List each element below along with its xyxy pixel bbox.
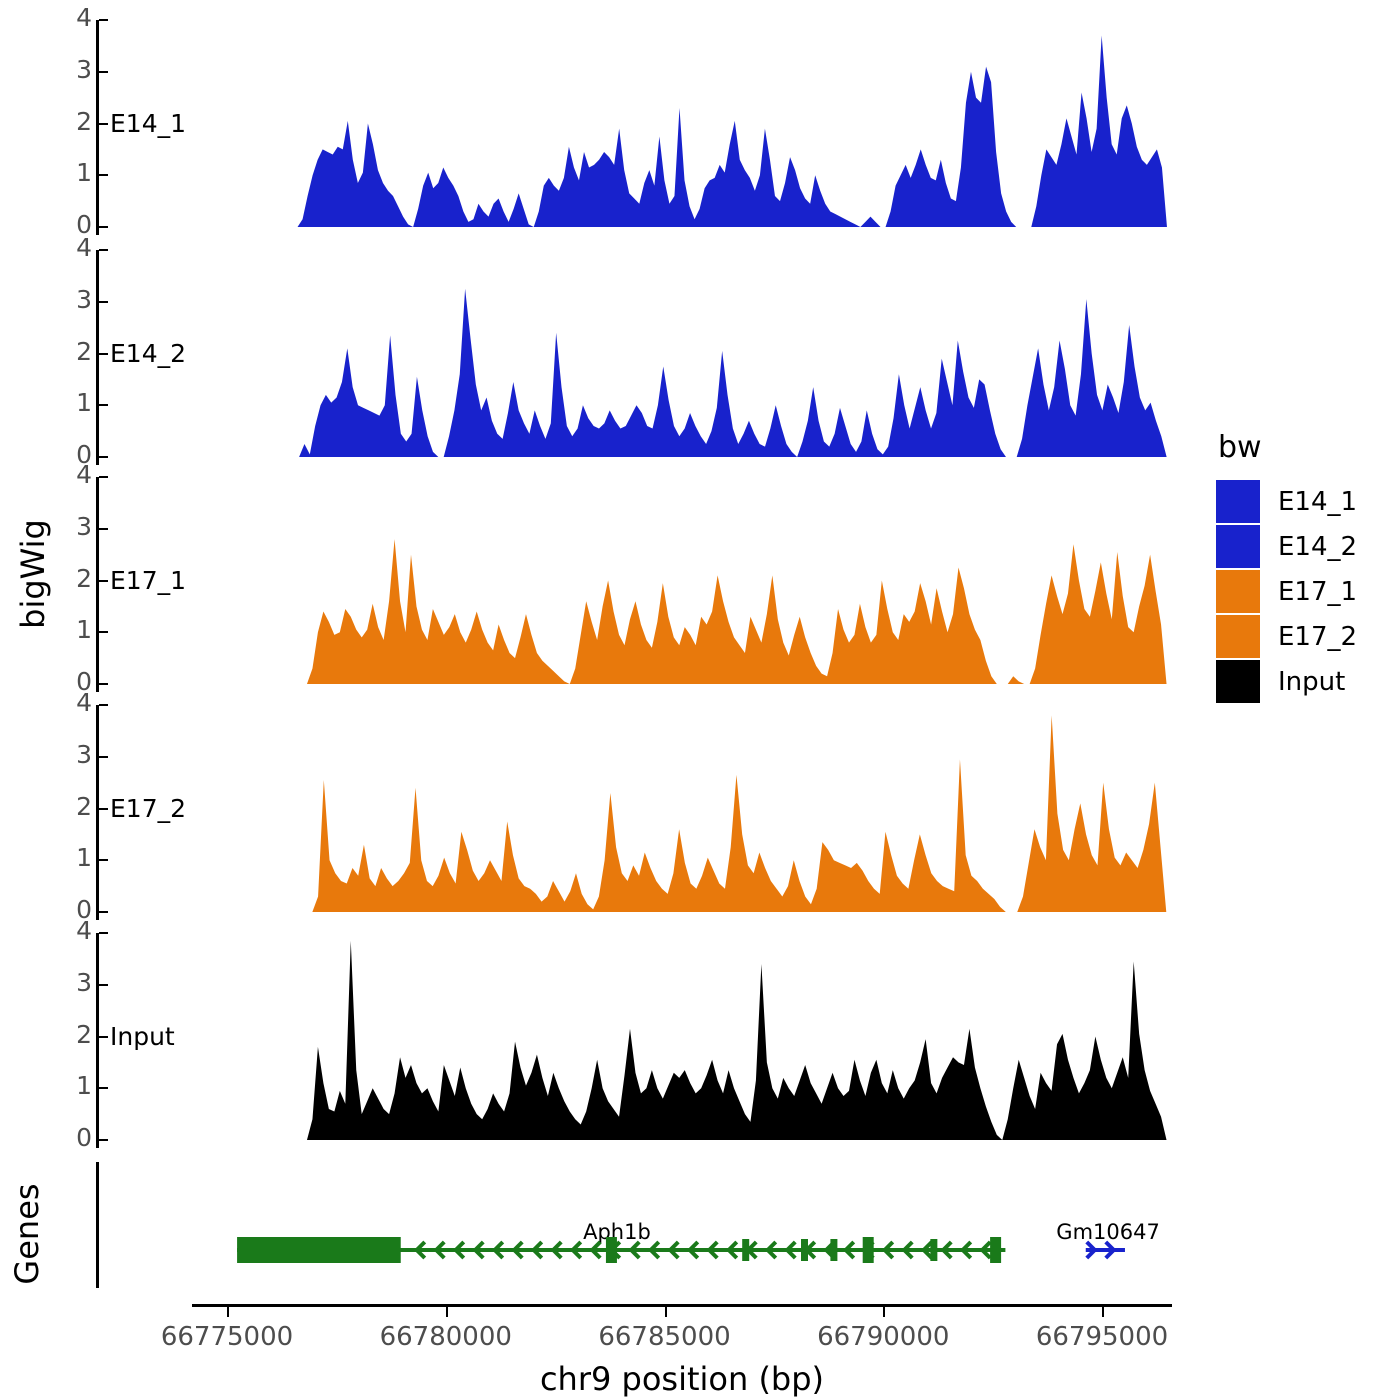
legend-swatch bbox=[1216, 525, 1260, 568]
y-tick bbox=[99, 756, 108, 758]
y-tick bbox=[99, 704, 108, 706]
y-tick bbox=[99, 123, 108, 125]
y-tick-label: 3 bbox=[58, 287, 92, 312]
y-tick-label: 2 bbox=[58, 794, 92, 819]
y-tick bbox=[99, 859, 108, 861]
y-tick bbox=[99, 71, 108, 73]
legend-swatch bbox=[1216, 480, 1260, 523]
y-tick bbox=[99, 174, 108, 176]
legend-item-e14_2[interactable]: E14_2 bbox=[1216, 524, 1396, 569]
y-tick bbox=[99, 683, 108, 685]
gene-models[interactable] bbox=[192, 1230, 1172, 1270]
aph1b-exon bbox=[990, 1237, 1001, 1263]
y-tick bbox=[99, 911, 108, 913]
track-area-e14_1 bbox=[192, 20, 1172, 228]
y-tick-label: 2 bbox=[58, 339, 92, 364]
y-tick-label: 3 bbox=[58, 514, 92, 539]
legend-label: E17_2 bbox=[1278, 622, 1357, 652]
y-tick-label: 3 bbox=[58, 57, 92, 82]
y-tick bbox=[99, 1139, 108, 1141]
aph1b-utr-block bbox=[237, 1237, 401, 1263]
y-axis-line bbox=[96, 477, 99, 692]
y-axis-line bbox=[96, 20, 99, 235]
legend-label: E14_1 bbox=[1278, 487, 1357, 517]
y-tick bbox=[99, 249, 108, 251]
y-tick-label: 1 bbox=[58, 617, 92, 642]
y-tick-label: 4 bbox=[58, 918, 92, 943]
track-label-e17_2: E17_2 bbox=[110, 794, 186, 823]
legend-swatch bbox=[1216, 570, 1260, 613]
x-axis-title: chr9 position (bp) bbox=[192, 1360, 1172, 1398]
y-tick-label: 3 bbox=[58, 742, 92, 767]
y-tick-label: 4 bbox=[58, 690, 92, 715]
y-tick-label: 4 bbox=[58, 5, 92, 30]
x-axis-line bbox=[192, 1304, 1172, 1307]
x-tick bbox=[883, 1307, 885, 1317]
y-tick-label: 2 bbox=[58, 109, 92, 134]
track-area-e14_2 bbox=[192, 250, 1172, 458]
y-tick bbox=[99, 353, 108, 355]
x-tick bbox=[665, 1307, 667, 1317]
y-tick-label: 1 bbox=[58, 1073, 92, 1098]
x-tick-label: 66775000 bbox=[161, 1322, 293, 1352]
y-tick bbox=[99, 1087, 108, 1089]
legend-item-e17_2[interactable]: E17_2 bbox=[1216, 614, 1396, 659]
y-tick-label: 1 bbox=[58, 160, 92, 185]
legend-swatch bbox=[1216, 660, 1260, 703]
legend-label: Input bbox=[1278, 667, 1345, 697]
legend-title: bw bbox=[1216, 430, 1396, 465]
y-tick-label: 4 bbox=[58, 235, 92, 260]
y-tick bbox=[99, 404, 108, 406]
x-tick-label: 66780000 bbox=[380, 1322, 512, 1352]
track-area-e17_1 bbox=[192, 477, 1172, 685]
y-tick-label: 1 bbox=[58, 845, 92, 870]
y-tick-label: 2 bbox=[58, 566, 92, 591]
y-tick-label: 4 bbox=[58, 462, 92, 487]
y-axis-line bbox=[96, 705, 99, 920]
y-axis-group-label: bigWig bbox=[14, 494, 52, 654]
genes-panel: Aph1b Gm10647 bbox=[0, 1160, 1200, 1300]
genes-axis-line bbox=[96, 1162, 99, 1288]
legend-item-e14_1[interactable]: E14_1 bbox=[1216, 479, 1396, 524]
x-tick-label: 66795000 bbox=[1036, 1322, 1168, 1352]
y-tick bbox=[99, 456, 108, 458]
track-label-input: Input bbox=[110, 1022, 175, 1051]
x-axis: 6677500066780000667850006679000066795000… bbox=[0, 1300, 1400, 1400]
y-axis-line bbox=[96, 933, 99, 1148]
y-tick bbox=[99, 301, 108, 303]
legend-item-input[interactable]: Input bbox=[1216, 659, 1396, 704]
x-tick-label: 66790000 bbox=[817, 1322, 949, 1352]
x-tick bbox=[1102, 1307, 1104, 1317]
y-tick-label: 2 bbox=[58, 1022, 92, 1047]
y-tick bbox=[99, 19, 108, 21]
track-area-input bbox=[192, 933, 1172, 1141]
y-tick-label: 3 bbox=[58, 970, 92, 995]
y-tick bbox=[99, 631, 108, 633]
y-tick bbox=[99, 932, 108, 934]
y-tick-label: 0 bbox=[58, 1125, 92, 1150]
legend-items: E14_1E14_2E17_1E17_2Input bbox=[1216, 479, 1396, 704]
legend-label: E14_2 bbox=[1278, 532, 1357, 562]
y-tick bbox=[99, 808, 108, 810]
y-tick bbox=[99, 1036, 108, 1038]
y-tick bbox=[99, 984, 108, 986]
legend-swatch bbox=[1216, 615, 1260, 658]
track-label-e14_1: E14_1 bbox=[110, 109, 186, 138]
track-label-e17_1: E17_1 bbox=[110, 566, 186, 595]
genome-browser-figure: bigWig Genes 01234E14_101234E14_201234E1… bbox=[0, 0, 1400, 1400]
legend: bw E14_1E14_2E17_1E17_2Input bbox=[1216, 430, 1396, 704]
x-tick bbox=[227, 1307, 229, 1317]
track-label-e14_2: E14_2 bbox=[110, 339, 186, 368]
legend-item-e17_1[interactable]: E17_1 bbox=[1216, 569, 1396, 614]
y-tick bbox=[99, 476, 108, 478]
legend-label: E17_1 bbox=[1278, 577, 1357, 607]
x-tick-label: 66785000 bbox=[598, 1322, 730, 1352]
x-tick bbox=[446, 1307, 448, 1317]
y-axis-line bbox=[96, 250, 99, 465]
y-tick bbox=[99, 580, 108, 582]
y-tick bbox=[99, 226, 108, 228]
track-area-e17_2 bbox=[192, 705, 1172, 913]
y-tick-label: 1 bbox=[58, 390, 92, 415]
y-tick bbox=[99, 528, 108, 530]
